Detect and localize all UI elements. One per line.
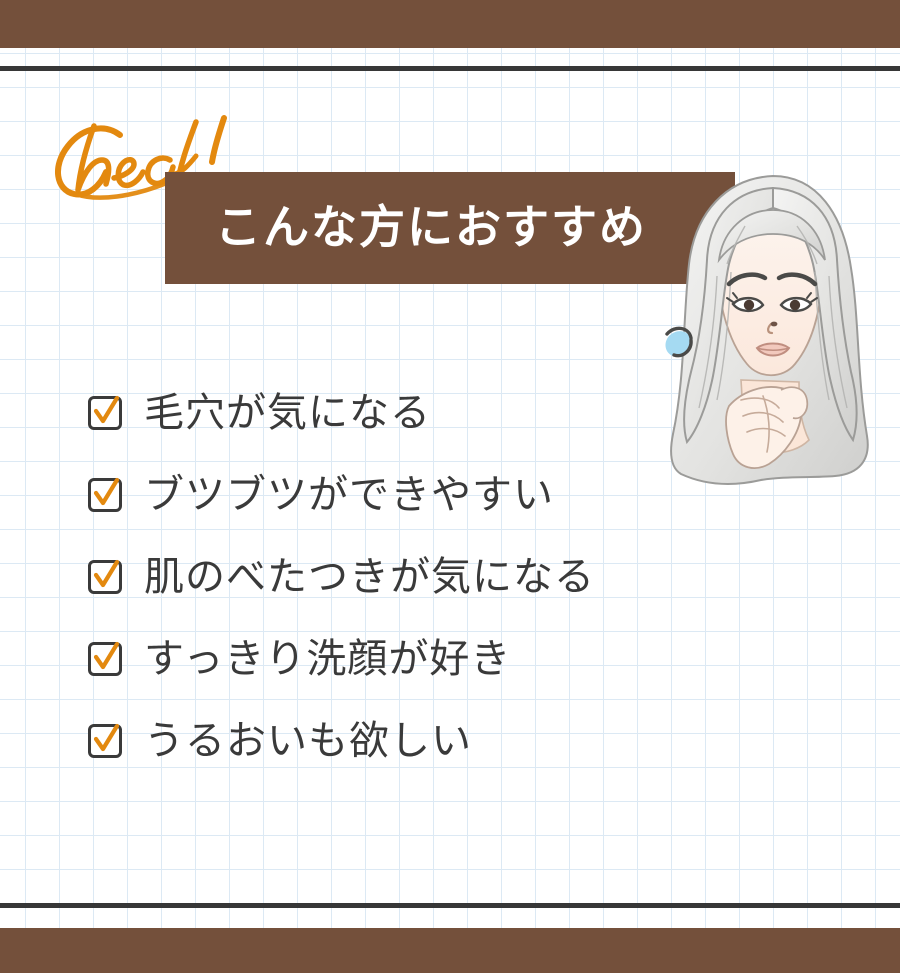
- top-brown-band: [0, 0, 900, 48]
- checklist-item-label: うるおいも欲しい: [144, 718, 472, 764]
- bottom-dark-rule: [0, 903, 900, 908]
- top-dark-rule: [0, 66, 900, 71]
- promo-card: こんな方におすすめ: [0, 0, 900, 973]
- checklist-item-label: 毛穴が気になる: [144, 390, 431, 436]
- checklist-item-label: 肌のべたつきが気になる: [144, 554, 595, 600]
- checklist-item[interactable]: 毛穴が気になる: [88, 372, 728, 454]
- checklist-item-label: すっきり洗顔が好き: [144, 636, 511, 682]
- checkbox-checked-icon[interactable]: [88, 560, 122, 594]
- checkbox-checked-icon[interactable]: [88, 396, 122, 430]
- checkbox-checked-icon[interactable]: [88, 642, 122, 676]
- checkbox-checked-icon[interactable]: [88, 478, 122, 512]
- banner-title: こんな方におすすめ: [215, 196, 647, 258]
- recommendation-checklist: 毛穴が気になる ブツブツができやすい 肌のべたつきが気になる: [88, 372, 728, 782]
- checkbox-checked-icon[interactable]: [88, 724, 122, 758]
- checklist-item[interactable]: すっきり洗顔が好き: [88, 618, 728, 700]
- checklist-item[interactable]: 肌のべたつきが気になる: [88, 536, 728, 618]
- bottom-brown-band: [0, 928, 900, 973]
- checklist-item[interactable]: ブツブツができやすい: [88, 454, 728, 536]
- sweat-drop: [666, 328, 692, 357]
- checklist-item[interactable]: うるおいも欲しい: [88, 700, 728, 782]
- checklist-item-label: ブツブツができやすい: [144, 472, 554, 518]
